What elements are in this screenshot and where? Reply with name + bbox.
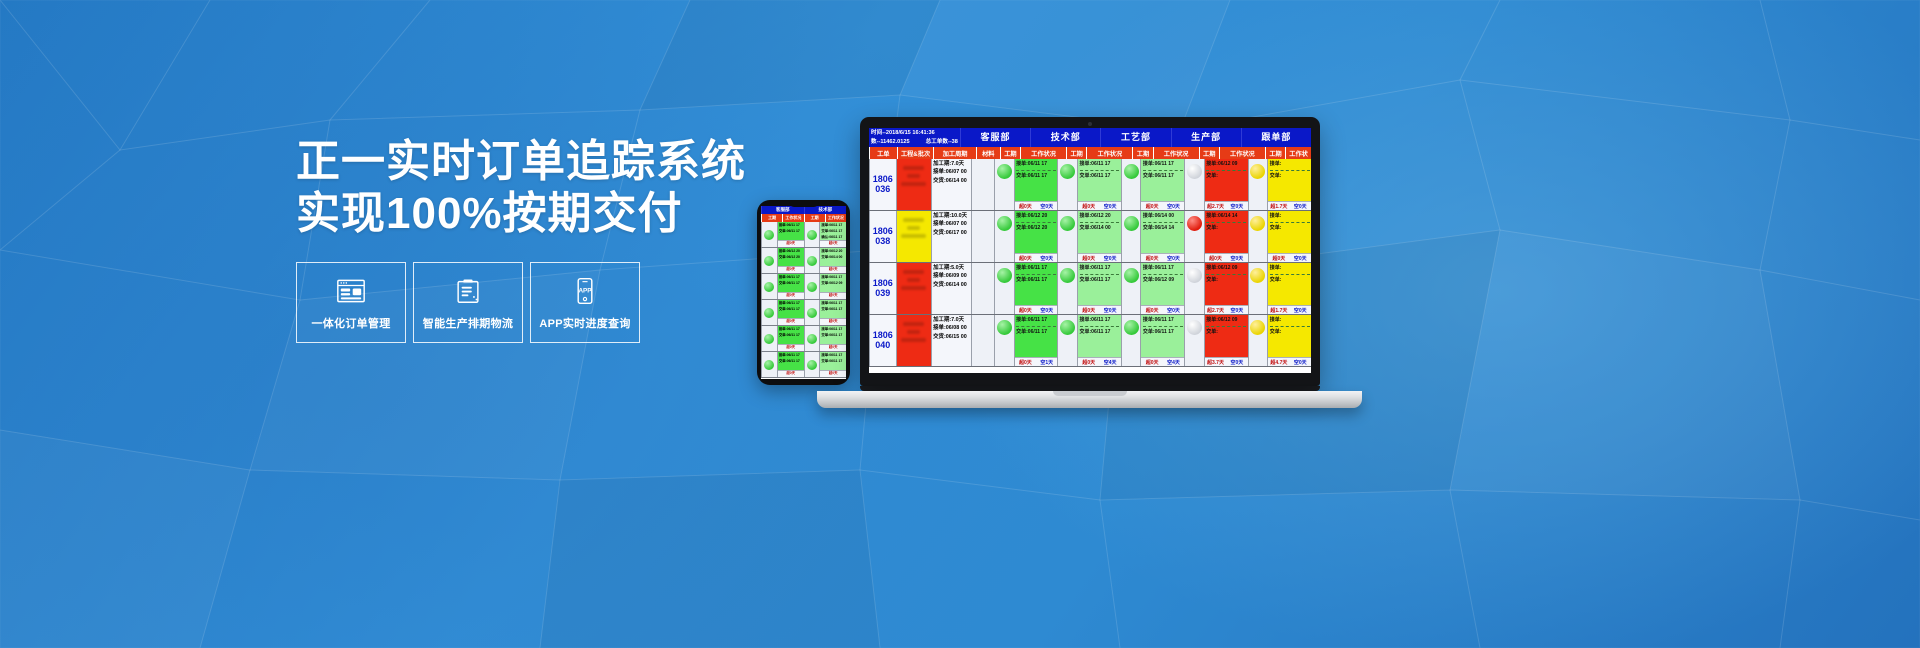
- status-line-1: 交单:06/14 00: [1080, 224, 1120, 233]
- status-line-1: 交单:06/11 17: [1143, 328, 1183, 337]
- over-days: 超0天: [1141, 305, 1162, 314]
- status-divider: [1206, 274, 1246, 275]
- status-line-1: 交单:06/11 17: [1016, 172, 1056, 181]
- phone-status-line-0: 接单:06/11 17: [821, 327, 845, 333]
- phone-status-right[interactable]: 接单:06/11 17交单:06/11 17超0天: [819, 300, 846, 325]
- status-line-0: 接单:: [1270, 212, 1310, 221]
- duration-cell-1: [1057, 159, 1077, 210]
- status-footer: 超0天空0天: [1268, 253, 1311, 262]
- laptop-base: [817, 391, 1362, 408]
- status-line-1: 交单:: [1270, 276, 1310, 285]
- phone-status-right[interactable]: 接单:06/11 17交单:06/11 17超0天: [819, 326, 846, 351]
- work-status-cell-0[interactable]: 接单:06/11 17交单:06/11 17超0天空0天: [1014, 159, 1058, 210]
- phone-status-line-1: 交单:06/11 17: [821, 359, 845, 365]
- over-days: 超2.7天: [1205, 201, 1226, 210]
- work-status-cell-1[interactable]: 接单:06/12 20交单:06/14 00超0天空0天: [1077, 211, 1121, 262]
- status-divider: [1143, 222, 1183, 223]
- status-line-0: 接单:06/14 00: [1143, 212, 1183, 221]
- phone-status-footer: 超0天: [778, 370, 804, 377]
- phone-status-right[interactable]: 接单:06/11 17交单:06/12 09超0天: [819, 274, 846, 299]
- cycle-line-0: 加工期:7.0天: [933, 316, 969, 324]
- status-lines: 接单:06/12 20交单:06/14 00: [1080, 212, 1120, 233]
- order-card-icon: [334, 274, 368, 308]
- duration-cell-4: [1248, 263, 1268, 314]
- status-indicator-white: [1187, 268, 1202, 283]
- list-item[interactable]: 接单:06/11 17交单:06/11 17超0天接单:06/11 17交单:0…: [761, 222, 846, 248]
- phone-status-line-0: 接单:06/11 17: [779, 223, 803, 229]
- duration-cell-1: [1057, 263, 1077, 314]
- over-days: 超0天: [1015, 253, 1036, 262]
- over-days: 超0天: [1015, 201, 1036, 210]
- phone-status-line-1: 交单:06/11 17: [779, 307, 803, 313]
- status-footer: 超0天空0天: [1078, 253, 1121, 262]
- status-lines: 接单:交单:: [1270, 316, 1310, 337]
- phone-duration-left: [761, 352, 777, 377]
- phone-duration-right: [804, 326, 820, 351]
- cycle-line-2: 交货:06/14 00: [933, 281, 969, 289]
- phone-status-line-1: 交单:06/11 17: [779, 229, 803, 235]
- erp-col-12: 工期: [1265, 147, 1285, 159]
- status-indicator-green: [1060, 268, 1075, 283]
- order-id: 1806038: [869, 211, 896, 262]
- erp-meta: 时间--2018/6/15 16:41:36 数--11462.0125 总工单…: [869, 128, 960, 147]
- status-divider: [1143, 326, 1183, 327]
- phone-status-left[interactable]: 接单:06/11 17交单:06/11 17超0天: [777, 300, 804, 325]
- phone-status-left[interactable]: 接单:06/11 17交单:06/11 17超0天: [777, 352, 804, 377]
- erp-table-body: 1806036加工期:7.0天接单:06/07 00交货:06/14 00接单:…: [869, 159, 1311, 367]
- erp-col-1: 工程&批次: [897, 147, 934, 159]
- erp-col-11: 工作状况: [1219, 147, 1265, 159]
- status-line-0: 接单:: [1270, 316, 1310, 325]
- phone-status-line-0: 接单:06/12 20: [821, 249, 845, 255]
- phone-status-right[interactable]: 接单:06/11 17交单:06/11 17确认:06/11 17超0天: [819, 222, 846, 247]
- phone-status-right[interactable]: 接单:06/11 17交单:06/11 17超0天: [819, 352, 846, 377]
- phone-status-line-1: 交单:06/11 17: [779, 359, 803, 365]
- erp-col-8: 工期: [1132, 147, 1152, 159]
- phone-status-footer: 超0天: [820, 240, 846, 247]
- phone-status-line-0: 接单:06/11 17: [821, 301, 845, 307]
- status-divider: [1080, 170, 1120, 171]
- phone-duration-right: [804, 300, 820, 325]
- feature-label-0: 一体化订单管理: [311, 315, 390, 331]
- status-line-0: 接单:06/14 14: [1206, 212, 1246, 221]
- status-lines: 接单:06/11 17交单:06/11 17: [1016, 264, 1056, 285]
- cycle-line-2: 交货:06/14 00: [933, 177, 969, 185]
- phone-duration-right: [804, 352, 820, 377]
- over-days: 超1.7天: [1268, 305, 1289, 314]
- status-footer: 超0天空4天: [1141, 357, 1184, 366]
- status-indicator-green: [997, 164, 1012, 179]
- status-line-0: 接单:06/12 20: [1016, 212, 1056, 221]
- idle-days: 空0天: [1036, 253, 1057, 262]
- status-divider: [1016, 326, 1056, 327]
- over-days: 超0天: [778, 292, 804, 299]
- status-line-1: 交单:06/12 20: [1016, 224, 1056, 233]
- erp-col-2: 加工周期: [933, 147, 975, 159]
- phone-status-line-1: 交单:06/12 09: [821, 281, 845, 287]
- status-indicator-green: [997, 216, 1012, 231]
- status-line-1: 交单:: [1270, 224, 1310, 233]
- table-row[interactable]: 1806039加工期:5.0天接单:06/09 00交货:06/14 00接单:…: [869, 263, 1311, 315]
- cycle-cell: 加工期:7.0天接单:06/07 00交货:06/14 00: [931, 159, 971, 210]
- status-divider: [1080, 222, 1120, 223]
- status-divider: [1080, 274, 1120, 275]
- status-line-1: 交单:: [1270, 328, 1310, 337]
- status-footer: 超0天空0天: [1015, 253, 1058, 262]
- status-line-1: 交单:: [1206, 328, 1246, 337]
- status-indicator-green: [1124, 216, 1139, 231]
- phone-duration-left: [761, 326, 777, 351]
- work-status-cell-2[interactable]: 接单:06/11 17交单:06/11 17超0天空0天: [1140, 159, 1184, 210]
- status-footer: 超2.7天空0天: [1205, 305, 1248, 314]
- idle-days: 空0天: [1290, 253, 1311, 262]
- status-line-1: 交单:: [1206, 172, 1246, 181]
- status-line-1: 交单:06/11 17: [1080, 328, 1120, 337]
- duration-cell-1: [1057, 315, 1077, 366]
- status-footer: 超0天空4天: [1078, 357, 1121, 366]
- status-indicator-green: [997, 268, 1012, 283]
- status-footer: 超2.7天空0天: [1205, 201, 1248, 210]
- erp-title-bar: 时间--2018/6/15 16:41:36 数--11462.0125 总工单…: [869, 128, 1311, 147]
- project-name-cell: [896, 315, 931, 366]
- status-line-0: 接单:06/12 20: [1080, 212, 1120, 221]
- table-row[interactable]: 1806040加工期:7.0天接单:06/08 00交货:06/15 00接单:…: [869, 315, 1311, 367]
- duration-cell-3: [1184, 263, 1204, 314]
- work-status-cell-3[interactable]: 接单:06/12 09交单:超2.7天空0天: [1204, 263, 1248, 314]
- phone-table-body: 接单:06/11 17交单:06/11 17超0天接单:06/11 17交单:0…: [761, 222, 846, 378]
- idle-days: 空0天: [1099, 253, 1120, 262]
- status-line-0: 接单:06/12 09: [1206, 264, 1246, 273]
- status-divider: [1143, 170, 1183, 171]
- work-status-cell-4[interactable]: 接单:交单:超0天空0天: [1267, 211, 1311, 262]
- status-footer: 超0天空0天: [1205, 253, 1248, 262]
- status-line-1: 交单:06/11 17: [1016, 328, 1056, 337]
- duration-cell-0: [994, 211, 1014, 262]
- idle-days: 空0天: [1290, 201, 1311, 210]
- duration-cell-2: [1121, 263, 1141, 314]
- erp-col-3: 材料: [976, 147, 1000, 159]
- work-status-cell-1[interactable]: 接单:06/11 17交单:06/11 17超0天空4天: [1077, 315, 1121, 366]
- idle-days: 空0天: [1036, 201, 1057, 210]
- feature-label-1: 智能生产排期物流: [423, 315, 513, 331]
- duration-cell-3: [1184, 315, 1204, 366]
- material-cell: [971, 211, 994, 262]
- status-indicator-green: [1060, 320, 1075, 335]
- erp-total-orders: 总工单数--38: [926, 138, 958, 147]
- phone-col-2: 工期: [804, 214, 825, 222]
- status-line-0: 接单:06/11 17: [1143, 316, 1183, 325]
- work-status-cell-2[interactable]: 接单:06/14 00交单:06/14 14超0天空0天: [1140, 211, 1184, 262]
- status-lines: 接单:06/11 17交单:06/12 09: [1143, 264, 1183, 285]
- phone-duration-right: [804, 222, 820, 247]
- laptop-lid: 时间--2018/6/15 16:41:36 数--11462.0125 总工单…: [860, 117, 1320, 386]
- status-line-0: 接单:06/11 17: [1143, 264, 1183, 273]
- over-days: 超0天: [1078, 253, 1099, 262]
- status-divider: [1016, 170, 1056, 171]
- status-indicator-yellow: [1250, 320, 1265, 335]
- over-days: 超0天: [1078, 201, 1099, 210]
- status-indicator-green: [807, 308, 817, 318]
- over-days: 超0天: [1205, 253, 1226, 262]
- over-days: 超0天: [1141, 253, 1162, 262]
- status-divider: [1016, 222, 1056, 223]
- cycle-line-2: 交货:06/15 00: [933, 333, 969, 341]
- erp-col-13: 工作状: [1285, 147, 1311, 159]
- status-indicator-green: [1124, 268, 1139, 283]
- status-line-1: 交单:06/11 17: [1080, 276, 1120, 285]
- order-id-bottom: 038: [875, 237, 890, 247]
- idle-days: 空0天: [1226, 253, 1247, 262]
- phone-col-0: 工期: [761, 214, 782, 222]
- hero-copy: 正一实时订单追踪系统 实现100%按期交付: [296, 136, 716, 240]
- idle-days: 空0天: [1099, 305, 1120, 314]
- status-lines: 接单:06/12 09交单:: [1206, 316, 1246, 337]
- status-divider: [1270, 170, 1310, 171]
- phone-status-footer: 超0天: [820, 370, 846, 377]
- erp-meta-line-2: 数--11462.0125: [871, 138, 910, 147]
- phone-column-header: 工期 工作状况 工期 工作状况: [761, 214, 846, 222]
- order-id-bottom: 039: [875, 289, 890, 299]
- feature-list: 一体化订单管理 智能生产排期物流 APP APP实时进度查询: [296, 262, 640, 343]
- duration-cell-4: [1248, 211, 1268, 262]
- clipboard-icon: [451, 274, 485, 308]
- status-footer: 超0天空0天: [1078, 201, 1121, 210]
- cycle-cell: 加工期:7.0天接单:06/08 00交货:06/15 00: [931, 315, 971, 366]
- status-indicator-green: [1124, 320, 1139, 335]
- erp-column-header: 工单工程&批次加工周期材料工期工作状况工期工作状况工期工作状况工期工作状况工期工…: [869, 147, 1311, 159]
- work-status-cell-0[interactable]: 接单:06/11 17交单:06/11 17超0天空1天: [1014, 315, 1058, 366]
- status-footer: 超3.7天空0天: [1205, 357, 1248, 366]
- status-line-0: 接单:06/11 17: [1016, 264, 1056, 273]
- status-lines: 接单:06/11 17交单:06/11 17: [1080, 316, 1120, 337]
- phone-status-line-0: 接单:06/11 17: [779, 353, 803, 359]
- over-days: 超0天: [1268, 253, 1289, 262]
- phone-dept-0: 客服部: [761, 206, 804, 214]
- status-divider: [1206, 170, 1246, 171]
- feature-item-app-progress[interactable]: APP APP实时进度查询: [530, 262, 640, 343]
- status-footer: 超0天空1天: [1015, 357, 1058, 366]
- headline-line-1: 正一实时订单追踪系统: [296, 136, 716, 188]
- table-row[interactable]: 1806038加工期:10.0天接单:06/07 00交货:06/17 00接单…: [869, 211, 1311, 263]
- over-days: 超0天: [778, 370, 804, 377]
- status-divider: [1016, 274, 1056, 275]
- phone-status-left[interactable]: 接单:06/12 20交单:06/12 20超0天: [777, 248, 804, 273]
- over-days: 超3.7天: [1205, 357, 1226, 366]
- phone-status-footer: 超0天: [778, 318, 804, 325]
- status-indicator-green: [1124, 164, 1139, 179]
- cycle-line-0: 加工期:10.0天: [933, 212, 969, 220]
- phone-status-left[interactable]: 接单:06/11 17交单:06/11 17超0天: [777, 222, 804, 247]
- list-item[interactable]: 接单:06/11 17交单:06/11 17超0天接单:06/11 17交单:0…: [761, 300, 846, 326]
- duration-cell-3: [1184, 159, 1204, 210]
- work-status-cell-0[interactable]: 接单:06/12 20交单:06/12 20超0天空0天: [1014, 211, 1058, 262]
- webcam-icon: [1088, 122, 1092, 126]
- phone-col-3: 工作状况: [825, 214, 846, 222]
- feature-label-2: APP实时进度查询: [539, 315, 630, 331]
- idle-days: 空0天: [1226, 305, 1247, 314]
- erp-dept-1: 技术部: [1030, 128, 1100, 147]
- project-name-cell: [896, 263, 931, 314]
- work-status-cell-3[interactable]: 接单:06/12 09交单:超3.7天空0天: [1204, 315, 1248, 366]
- status-lines: 接单:06/12 20交单:06/12 20: [1016, 212, 1056, 233]
- idle-days: 空4天: [1163, 357, 1184, 366]
- status-lines: 接单:06/11 17交单:06/11 17: [1016, 316, 1056, 337]
- erp-dept-3: 生产部: [1171, 128, 1241, 147]
- status-line-1: 交单:: [1270, 172, 1310, 181]
- status-indicator-green: [807, 256, 817, 266]
- status-indicator-green: [764, 334, 774, 344]
- status-indicator-green: [764, 230, 774, 240]
- work-status-cell-3[interactable]: 接单:06/12 09交单:超2.7天空0天: [1204, 159, 1248, 210]
- phone-status-right[interactable]: 接单:06/12 20交单:06/14 00超0天: [819, 248, 846, 273]
- table-row[interactable]: 1806036加工期:7.0天接单:06/07 00交货:06/14 00接单:…: [869, 159, 1311, 211]
- list-item[interactable]: 接单:06/11 17交单:06/11 17超0天接单:06/11 17交单:0…: [761, 326, 846, 352]
- over-days: 超2.7天: [1205, 305, 1226, 314]
- phone-status-left[interactable]: 接单:06/11 17交单:06/11 17超0天: [777, 274, 804, 299]
- work-status-cell-2[interactable]: 接单:06/11 17交单:06/11 17超0天空4天: [1140, 315, 1184, 366]
- status-line-1: 交单:06/11 17: [1016, 276, 1056, 285]
- idle-days: 空0天: [1163, 305, 1184, 314]
- status-footer: 超1.7天空0天: [1268, 305, 1311, 314]
- phone-duration-right: [804, 248, 820, 273]
- phone-status-footer: 超0天: [778, 344, 804, 351]
- over-days: 超0天: [1141, 357, 1162, 366]
- phone-status-footer: 超0天: [820, 266, 846, 273]
- status-lines: 接单:06/12 09交单:: [1206, 264, 1246, 285]
- phone-status-line-1: 交单:06/14 00: [821, 255, 845, 261]
- laptop-notch: [1053, 391, 1127, 396]
- list-item[interactable]: 接单:06/12 20交单:06/12 20超0天接单:06/12 20交单:0…: [761, 248, 846, 274]
- list-item[interactable]: 接单:06/11 17交单:06/11 17超0天接单:06/11 17交单:0…: [761, 274, 846, 300]
- laptop-mockup: 时间--2018/6/15 16:41:36 数--11462.0125 总工单…: [860, 117, 1320, 408]
- status-indicator-yellow: [1250, 164, 1265, 179]
- work-status-cell-3[interactable]: 接单:06/14 14交单:超0天空0天: [1204, 211, 1248, 262]
- duration-cell-2: [1121, 159, 1141, 210]
- status-footer: 超0天空0天: [1141, 305, 1184, 314]
- phone-status-line-0: 接单:06/12 20: [779, 249, 803, 255]
- phone-status-line-0: 接单:06/11 17: [821, 223, 845, 229]
- project-name-cell: [896, 211, 931, 262]
- phone-department-header: 客服部 技术部: [761, 206, 846, 214]
- status-line-0: 接单:06/11 17: [1143, 160, 1183, 169]
- cycle-line-0: 加工期:7.0天: [933, 160, 969, 168]
- phone-status-line-0: 接单:06/11 17: [779, 275, 803, 281]
- status-line-1: 交单:: [1206, 224, 1246, 233]
- status-line-0: 接单:: [1270, 264, 1310, 273]
- svg-text:APP: APP: [578, 288, 592, 295]
- cycle-line-0: 加工期:5.0天: [933, 264, 969, 272]
- duration-cell-0: [994, 159, 1014, 210]
- feature-item-production-scheduling[interactable]: 智能生产排期物流: [413, 262, 523, 343]
- work-status-cell-4[interactable]: 接单:交单:超1.7天空0天: [1267, 159, 1311, 210]
- headline-line-2: 实现100%按期交付: [296, 188, 716, 240]
- work-status-cell-2[interactable]: 接单:06/11 17交单:06/12 09超0天空0天: [1140, 263, 1184, 314]
- erp-col-9: 工作状况: [1153, 147, 1199, 159]
- phone-col-1: 工作状况: [782, 214, 803, 222]
- idle-days: 空0天: [1226, 201, 1247, 210]
- work-status-cell-0[interactable]: 接单:06/11 17交单:06/11 17超0天空0天: [1014, 263, 1058, 314]
- status-line-0: 接单:06/12 09: [1206, 160, 1246, 169]
- work-status-cell-4[interactable]: 接单:交单:超4.7天空0天: [1267, 315, 1311, 366]
- over-days: 超0天: [778, 266, 804, 273]
- phone-status-line-0: 接单:06/11 17: [821, 353, 845, 359]
- work-status-cell-4[interactable]: 接单:交单:超1.7天空0天: [1267, 263, 1311, 314]
- over-days: 超0天: [1078, 305, 1099, 314]
- idle-days: 空0天: [1290, 305, 1311, 314]
- erp-col-10: 工期: [1199, 147, 1219, 159]
- erp-dept-4: 跟单部: [1241, 128, 1311, 147]
- phone-screen: 客服部 技术部 工期 工作状况 工期 工作状况 接单:06/11 17交单:06…: [761, 206, 846, 379]
- cycle-line-1: 接单:06/09 00: [933, 272, 969, 280]
- phone-duration-right: [804, 274, 820, 299]
- over-days: 超0天: [1015, 305, 1036, 314]
- status-footer: 超4.7天空0天: [1268, 357, 1311, 366]
- cycle-cell: 加工期:5.0天接单:06/09 00交货:06/14 00: [931, 263, 971, 314]
- status-footer: 超0天空0天: [1015, 305, 1058, 314]
- status-line-0: 接单:06/11 17: [1080, 264, 1120, 273]
- feature-item-order-management[interactable]: 一体化订单管理: [296, 262, 406, 343]
- status-indicator-green: [807, 360, 817, 370]
- over-days: 超0天: [820, 266, 846, 273]
- status-lines: 接单:交单:: [1270, 264, 1310, 285]
- phone-dept-1: 技术部: [804, 206, 847, 214]
- status-divider: [1270, 222, 1310, 223]
- status-indicator-green: [1060, 216, 1075, 231]
- status-indicator-red: [1187, 216, 1202, 231]
- erp-col-7: 工作状况: [1086, 147, 1132, 159]
- erp-dept-2: 工艺部: [1100, 128, 1170, 147]
- duration-cell-0: [994, 315, 1014, 366]
- status-lines: 接单:06/11 17交单:06/11 17: [1143, 160, 1183, 181]
- phone-status-footer: 超0天: [778, 266, 804, 273]
- phone-status-left[interactable]: 接单:06/11 17交单:06/11 17超0天: [777, 326, 804, 351]
- idle-days: 空0天: [1290, 357, 1311, 366]
- status-line-1: 交单:06/11 17: [1143, 172, 1183, 181]
- work-status-cell-1[interactable]: 接单:06/11 17交单:06/11 17超0天空0天: [1077, 159, 1121, 210]
- erp-dept-0: 客服部: [960, 128, 1030, 147]
- mobile-app-icon: APP: [568, 274, 602, 308]
- work-status-cell-1[interactable]: 接单:06/11 17交单:06/11 17超0天空0天: [1077, 263, 1121, 314]
- status-divider: [1206, 222, 1246, 223]
- status-indicator-yellow: [1250, 268, 1265, 283]
- order-id-bottom: 040: [875, 341, 890, 351]
- phone-status-footer: 超0天: [778, 292, 804, 299]
- duration-cell-4: [1248, 315, 1268, 366]
- status-indicator-green: [764, 308, 774, 318]
- status-line-1: 交单:06/11 17: [1080, 172, 1120, 181]
- phone-status-footer: 超0天: [820, 318, 846, 325]
- status-line-0: 接单:06/11 17: [1080, 160, 1120, 169]
- over-days: 超0天: [1015, 357, 1036, 366]
- cycle-line-1: 接单:06/07 00: [933, 168, 969, 176]
- erp-col-4: 工期: [1000, 147, 1020, 159]
- idle-days: 空4天: [1099, 357, 1120, 366]
- over-days: 超0天: [820, 318, 846, 325]
- over-days: 超0天: [778, 344, 804, 351]
- phone-status-line-1: 交单:06/11 17: [821, 307, 845, 313]
- status-lines: 接单:06/12 09交单:: [1206, 160, 1246, 181]
- status-divider: [1270, 326, 1310, 327]
- material-cell: [971, 159, 994, 210]
- status-divider: [1143, 274, 1183, 275]
- status-indicator-green: [764, 360, 774, 370]
- status-footer: 超0天空0天: [1141, 201, 1184, 210]
- over-days: 超0天: [778, 318, 804, 325]
- over-days: 超0天: [1078, 357, 1099, 366]
- idle-days: 空0天: [1099, 201, 1120, 210]
- phone-mockup: 客服部 技术部 工期 工作状况 工期 工作状况 接单:06/11 17交单:06…: [757, 200, 850, 385]
- list-item[interactable]: 接单:06/11 17交单:06/11 17超0天接单:06/11 17交单:0…: [761, 352, 846, 378]
